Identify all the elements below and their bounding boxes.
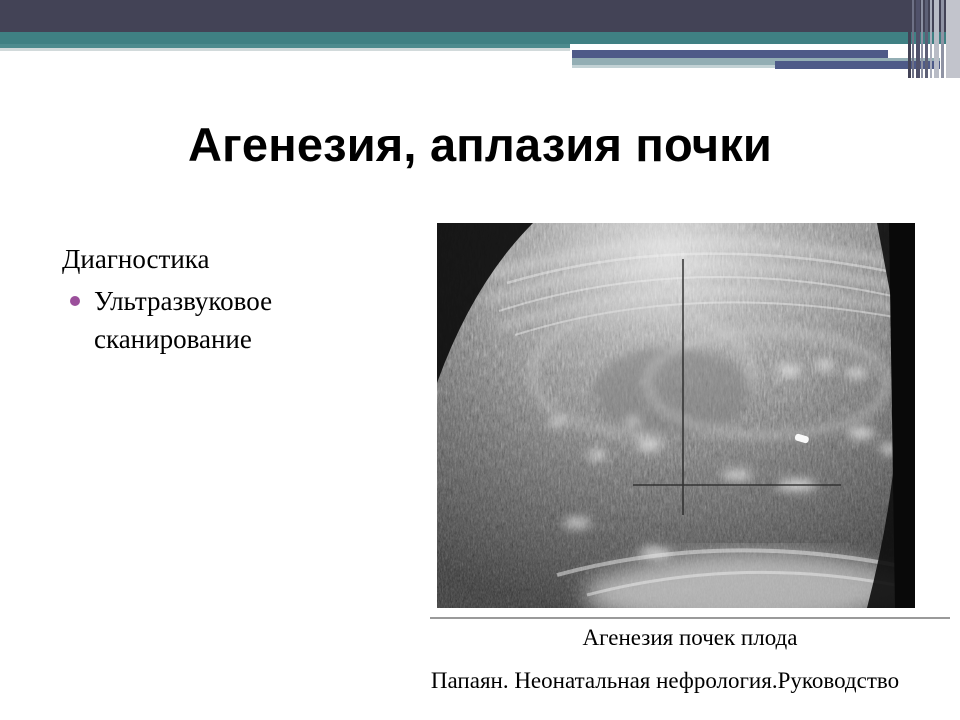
banner-stripe-3 (921, 0, 923, 78)
list-item-label: Ультразвуковое сканирование (94, 282, 392, 358)
bullet-dot-icon (70, 296, 80, 306)
banner-stripe-0 (908, 0, 911, 78)
banner-bar-navy (0, 0, 960, 32)
banner-stripe-6 (934, 0, 939, 78)
banner-stripe-1 (912, 0, 914, 78)
banner-bar-teal (0, 32, 960, 44)
figure-caption: Агенезия почек плода (430, 622, 950, 654)
body-text-column: Диагностика Ультразвуковое сканирование (62, 240, 392, 358)
banner-vertical-stripes (908, 0, 960, 78)
banner-bar-slate-upper (572, 50, 888, 58)
banner-stripe-2 (916, 0, 920, 78)
header-banner (0, 0, 960, 78)
slide: Агенезия, аплазия почки Диагностика Ульт… (0, 0, 960, 720)
figure-source-citation: Папаян. Неонатальная нефрология.Руководс… (380, 665, 950, 697)
banner-stripe-8 (946, 0, 960, 78)
ultrasound-figure (437, 223, 915, 608)
banner-bar-pale (0, 48, 570, 51)
banner-stripe-4 (925, 0, 928, 78)
figure-divider-rule (430, 617, 950, 619)
banner-stripe-7 (941, 0, 944, 78)
section-heading: Диагностика (62, 240, 392, 278)
page-title: Агенезия, аплазия почки (60, 117, 900, 173)
list-item: Ультразвуковое сканирование (62, 282, 392, 358)
ultrasound-image (437, 223, 915, 608)
banner-stripe-5 (930, 0, 932, 78)
